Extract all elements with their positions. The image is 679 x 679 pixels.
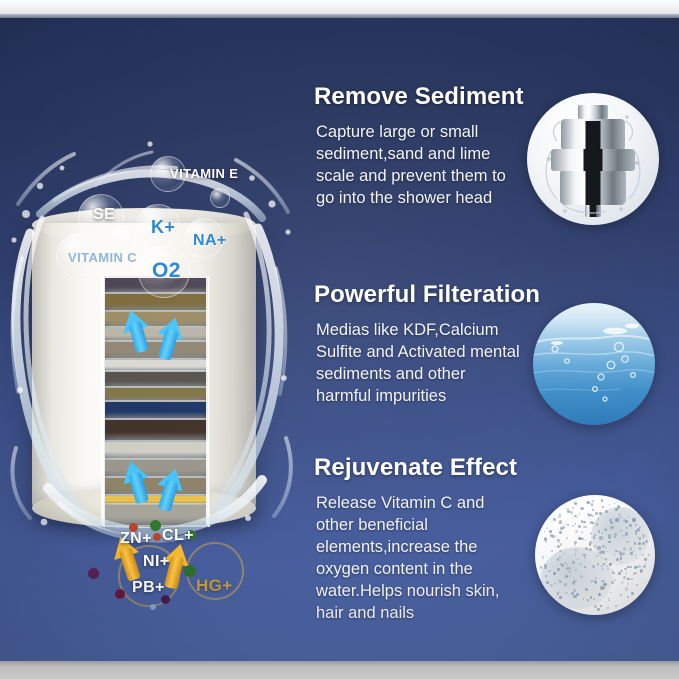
- granule-speck: [627, 583, 630, 586]
- granule-speck: [615, 508, 618, 511]
- granule-speck: [598, 518, 600, 520]
- granule-speck: [570, 511, 573, 514]
- granule-speck: [627, 596, 629, 598]
- feature-1-body: Capture large or small sediment,sand and…: [316, 121, 521, 209]
- clear-blue-water-surface-photo: [533, 303, 655, 425]
- granule-cluster-left: [541, 547, 613, 609]
- granule-speck: [572, 507, 574, 509]
- filter-product-scene: VITAMIN ESEK+NA+VITAMIN CO2 ZN+CL+N: [0, 18, 310, 661]
- granule-speck: [557, 592, 560, 595]
- granule-speck: [591, 522, 594, 525]
- granule-speck: [597, 608, 600, 611]
- granule-speck: [578, 537, 581, 540]
- granule-speck: [583, 598, 584, 599]
- granule-speck: [599, 512, 602, 515]
- bottom-grey-band: [0, 661, 679, 679]
- feature-3-body: Release Vitamin C and other beneficial e…: [316, 492, 521, 624]
- granule-speck: [629, 566, 631, 568]
- granule-speck: [559, 596, 562, 599]
- granule-speck: [608, 600, 610, 602]
- granule-speck: [638, 542, 641, 545]
- granule-speck: [575, 530, 578, 533]
- granule-speck: [567, 524, 569, 526]
- granule-speck: [566, 537, 568, 539]
- granule-speck: [572, 561, 575, 564]
- label-se: SE: [93, 206, 115, 224]
- granule-speck: [644, 558, 647, 561]
- granule-speck: [574, 544, 576, 546]
- label-hg: HG+: [196, 576, 233, 596]
- granule-speck: [600, 586, 603, 589]
- housing-splash-accent: [527, 93, 659, 225]
- granule-speck: [615, 605, 617, 607]
- granule-speck: [572, 525, 574, 527]
- granule-speck: [551, 550, 554, 553]
- feature-2-body: Medias like KDF,Calcium Sulfite and Acti…: [316, 319, 521, 407]
- granule-speck: [551, 521, 553, 523]
- granule-speck: [615, 550, 617, 552]
- granule-speck: [565, 575, 568, 578]
- granule-speck: [635, 554, 636, 555]
- granule-speck: [622, 535, 624, 537]
- granule-speck: [614, 503, 616, 505]
- granule-speck: [601, 499, 604, 502]
- granule-speck: [559, 550, 561, 552]
- cutaway-rail-right: [206, 276, 209, 525]
- granule-speck: [574, 515, 576, 517]
- label-cl: CL+: [162, 527, 194, 545]
- granule-speck: [557, 545, 559, 547]
- granule-speck: [625, 532, 628, 535]
- granule-speck: [545, 541, 547, 543]
- granule-speck: [614, 579, 616, 581]
- granule-speck: [560, 527, 563, 530]
- granule-speck: [589, 543, 592, 546]
- granule-speck: [593, 536, 596, 539]
- granule-speck: [594, 545, 596, 547]
- granule-speck: [578, 525, 581, 528]
- granule-speck: [559, 522, 561, 524]
- granule-speck: [608, 534, 611, 537]
- granule-speck: [551, 535, 554, 538]
- granule-speck: [580, 507, 582, 509]
- granule-speck: [603, 545, 605, 547]
- granule-speck: [611, 581, 614, 584]
- granule-speck: [542, 556, 545, 559]
- granule-speck: [573, 577, 575, 579]
- granule-speck: [642, 554, 644, 556]
- granule-speck: [648, 554, 650, 556]
- granule-speck: [609, 563, 611, 565]
- granule-speck: [593, 598, 595, 600]
- granule-speck: [548, 570, 551, 573]
- label-ni: NI+: [143, 553, 170, 571]
- granule-speck: [583, 521, 586, 524]
- granule-speck: [562, 523, 563, 524]
- granule-speck: [574, 502, 577, 505]
- granule-speck: [585, 539, 587, 541]
- granule-speck: [583, 532, 584, 533]
- contaminant-particle-7: [115, 589, 125, 599]
- granule-speck: [620, 561, 622, 563]
- granule-speck: [625, 587, 628, 590]
- granule-speck: [540, 566, 542, 568]
- granule-speck: [620, 594, 622, 596]
- granule-speck: [602, 506, 604, 508]
- granule-speck: [627, 578, 629, 580]
- granule-speck: [603, 563, 604, 564]
- granule-speck: [618, 572, 621, 575]
- granule-speck: [620, 530, 622, 532]
- granule-speck: [546, 581, 549, 584]
- granule-speck: [613, 572, 615, 574]
- granule-speck: [609, 541, 611, 543]
- granule-speck: [573, 595, 576, 598]
- granule-speck: [619, 517, 620, 518]
- granule-speck: [636, 584, 638, 586]
- granule-speck: [559, 531, 562, 534]
- vitamin-c-granules-photo: [535, 495, 655, 615]
- granule-speck: [623, 547, 626, 550]
- granule-speck: [614, 533, 617, 536]
- granule-speck: [573, 589, 576, 592]
- granule-speck: [544, 565, 547, 568]
- contaminant-particle-9: [150, 604, 156, 610]
- granule-speck: [623, 581, 624, 582]
- granule-speck: [619, 551, 621, 553]
- granule-speck: [591, 503, 594, 506]
- contaminant-particle-5: [153, 533, 161, 541]
- granule-speck: [546, 527, 548, 529]
- granule-speck: [559, 556, 561, 558]
- granule-speck: [625, 573, 626, 574]
- granule-speck: [642, 534, 645, 537]
- granule-speck: [610, 592, 611, 593]
- granule-speck: [634, 542, 636, 544]
- granule-speck: [603, 587, 605, 589]
- granule-speck: [601, 550, 604, 553]
- granule-speck: [572, 517, 574, 519]
- granule-speck: [597, 546, 600, 549]
- granule-speck: [581, 538, 583, 540]
- granule-speck: [621, 582, 623, 584]
- granule-speck: [631, 578, 633, 580]
- granule-speck: [633, 572, 636, 575]
- granule-speck: [615, 518, 618, 521]
- granule-speck: [586, 501, 589, 504]
- granule-speck: [579, 513, 580, 514]
- label-vitamin-e: VITAMIN E: [170, 166, 238, 181]
- label-k: K+: [151, 217, 175, 238]
- granule-speck: [631, 592, 634, 595]
- granule-speck: [592, 500, 594, 502]
- granule-speck: [609, 504, 610, 505]
- granule-speck: [582, 554, 584, 556]
- granule-speck: [603, 583, 606, 586]
- granule-speck: [605, 558, 606, 559]
- granule-speck: [638, 565, 641, 568]
- granule-speck: [599, 536, 602, 539]
- granule-speck: [607, 607, 608, 608]
- product-infographic: VITAMIN ESEK+NA+VITAMIN CO2 ZN+CL+N: [0, 0, 679, 679]
- granule-speck: [621, 552, 624, 555]
- granule-speck: [610, 521, 613, 524]
- granule-speck: [590, 533, 591, 534]
- contaminant-particle-3: [184, 565, 196, 577]
- granule-speck: [546, 555, 547, 556]
- granule-speck: [640, 571, 642, 573]
- bubble-small-2: [210, 188, 230, 208]
- label-na: NA+: [193, 232, 227, 250]
- label-o2: O2: [152, 259, 181, 283]
- granule-speck: [560, 543, 563, 546]
- granule-speck: [553, 518, 556, 521]
- granule-speck: [580, 575, 583, 578]
- granule-speck: [592, 509, 594, 511]
- granule-speck: [558, 515, 561, 518]
- top-white-band: [0, 0, 679, 14]
- granule-speck: [618, 513, 621, 516]
- granule-speck: [544, 531, 545, 532]
- granule-speck: [592, 565, 595, 568]
- granule-speck: [623, 576, 626, 579]
- feature-3-title: Rejuvenate Effect: [314, 455, 674, 482]
- cutaway-rail-left: [101, 276, 104, 525]
- bubble-small-1: [112, 226, 136, 250]
- granule-speck: [576, 593, 578, 595]
- granule-speck: [595, 577, 597, 579]
- granule-speck: [620, 570, 623, 573]
- granule-speck: [569, 575, 571, 577]
- granule-speck: [630, 552, 633, 555]
- granule-speck: [629, 524, 632, 527]
- granule-speck: [565, 592, 567, 594]
- contaminant-particle-6: [88, 568, 99, 579]
- media-layer-dark-brown-media: [105, 420, 208, 442]
- granule-speck: [643, 565, 646, 568]
- granule-speck: [624, 568, 626, 570]
- granule-speck: [600, 605, 602, 607]
- granule-speck: [635, 524, 637, 526]
- granule-speck: [626, 571, 628, 573]
- granule-speck: [549, 530, 552, 533]
- granule-speck: [558, 529, 559, 530]
- granule-speck: [632, 518, 635, 521]
- granule-speck: [634, 566, 637, 569]
- granule-speck: [614, 536, 616, 538]
- label-pb: PB+: [132, 579, 165, 597]
- granule-speck: [587, 599, 589, 601]
- granule-speck: [574, 541, 577, 544]
- chrome-shower-filter-housing-photo: [527, 93, 659, 225]
- label-vitamin-c: VITAMIN C: [68, 250, 137, 265]
- granule-speck: [575, 523, 576, 524]
- granule-speck: [605, 547, 607, 549]
- granule-speck: [590, 596, 592, 598]
- granule-speck: [598, 593, 601, 596]
- infographic-photo-area: VITAMIN ESEK+NA+VITAMIN CO2 ZN+CL+N: [0, 18, 679, 661]
- label-zn: ZN+: [120, 530, 152, 548]
- granule-speck: [605, 510, 608, 513]
- granule-speck: [610, 526, 613, 529]
- granule-speck: [568, 571, 569, 572]
- granule-speck: [627, 566, 628, 567]
- granule-speck: [585, 526, 587, 528]
